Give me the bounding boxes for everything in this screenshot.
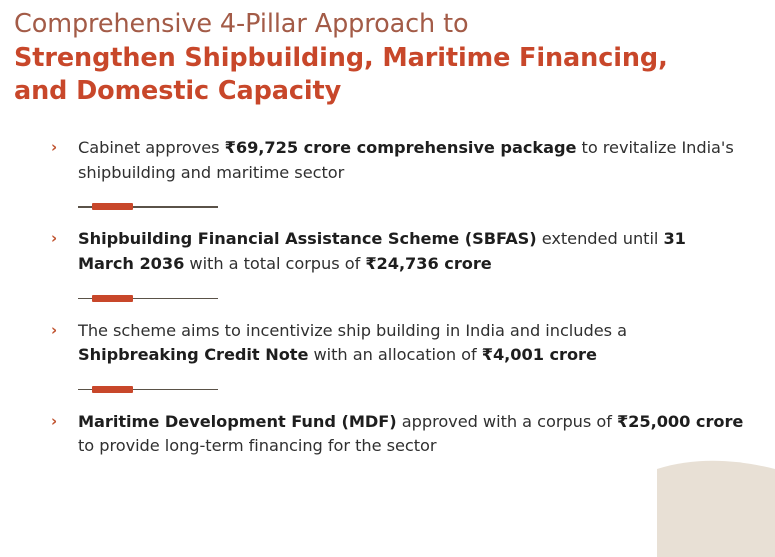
divider-accent-bar — [92, 386, 133, 393]
emphasis-text: Maritime Development Fund (MDF) — [78, 412, 397, 431]
plain-text: with an allocation of — [308, 345, 481, 364]
list-item[interactable]: ›The scheme aims to incentivize ship bui… — [0, 319, 775, 368]
title-line-3: and Domestic Capacity — [14, 75, 734, 109]
section-divider — [0, 202, 775, 211]
list-item[interactable]: ›Maritime Development Fund (MDF) approve… — [0, 410, 775, 459]
emphasis-text: ₹4,001 crore — [482, 345, 597, 364]
divider-accent-bar — [92, 203, 133, 210]
chevron-right-icon: › — [51, 320, 57, 342]
list-item-text: The scheme aims to incentivize ship buil… — [78, 321, 627, 365]
title-line-1: Comprehensive 4-Pillar Approach to — [14, 8, 734, 42]
bullet-group: ›Cabinet approves ₹69,725 crore comprehe… — [0, 136, 775, 185]
plain-text: extended until — [537, 229, 664, 248]
title-line-2: Strengthen Shipbuilding, Maritime Financ… — [14, 42, 734, 76]
chevron-right-icon: › — [51, 411, 57, 433]
emphasis-text: Shipbuilding Financial Assistance Scheme… — [78, 229, 537, 248]
bullet-list: ›Cabinet approves ₹69,725 crore comprehe… — [0, 136, 775, 459]
section-divider — [0, 294, 775, 303]
page-title: Comprehensive 4-Pillar Approach to Stren… — [14, 8, 734, 109]
section-divider — [0, 385, 775, 394]
emphasis-text: ₹69,725 crore comprehensive package — [225, 138, 577, 157]
bullet-group: ›The scheme aims to incentivize ship bui… — [0, 319, 775, 368]
plain-text: Cabinet approves — [78, 138, 225, 157]
list-item-text: Cabinet approves ₹69,725 crore comprehen… — [78, 138, 734, 182]
plain-text: The scheme aims to incentivize ship buil… — [78, 321, 627, 340]
slide-canvas: Comprehensive 4-Pillar Approach to Stren… — [0, 0, 775, 557]
chevron-right-icon: › — [51, 228, 57, 250]
decorative-shape-path — [657, 461, 775, 557]
chevron-right-icon: › — [51, 137, 57, 159]
list-item[interactable]: ›Cabinet approves ₹69,725 crore comprehe… — [0, 136, 775, 185]
plain-text: approved with a corpus of — [397, 412, 617, 431]
bullet-group: ›Maritime Development Fund (MDF) approve… — [0, 410, 775, 459]
emphasis-text: ₹24,736 crore — [365, 254, 491, 273]
emphasis-text: ₹25,000 crore — [617, 412, 743, 431]
plain-text: to provide long-term financing for the s… — [78, 436, 436, 455]
divider-accent-bar — [92, 295, 133, 302]
plain-text: with a total corpus of — [184, 254, 365, 273]
list-item-text: Shipbuilding Financial Assistance Scheme… — [78, 229, 686, 273]
list-item[interactable]: ›Shipbuilding Financial Assistance Schem… — [0, 227, 775, 276]
list-item-text: Maritime Development Fund (MDF) approved… — [78, 412, 743, 456]
emphasis-text: Shipbreaking Credit Note — [78, 345, 308, 364]
bullet-group: ›Shipbuilding Financial Assistance Schem… — [0, 227, 775, 276]
